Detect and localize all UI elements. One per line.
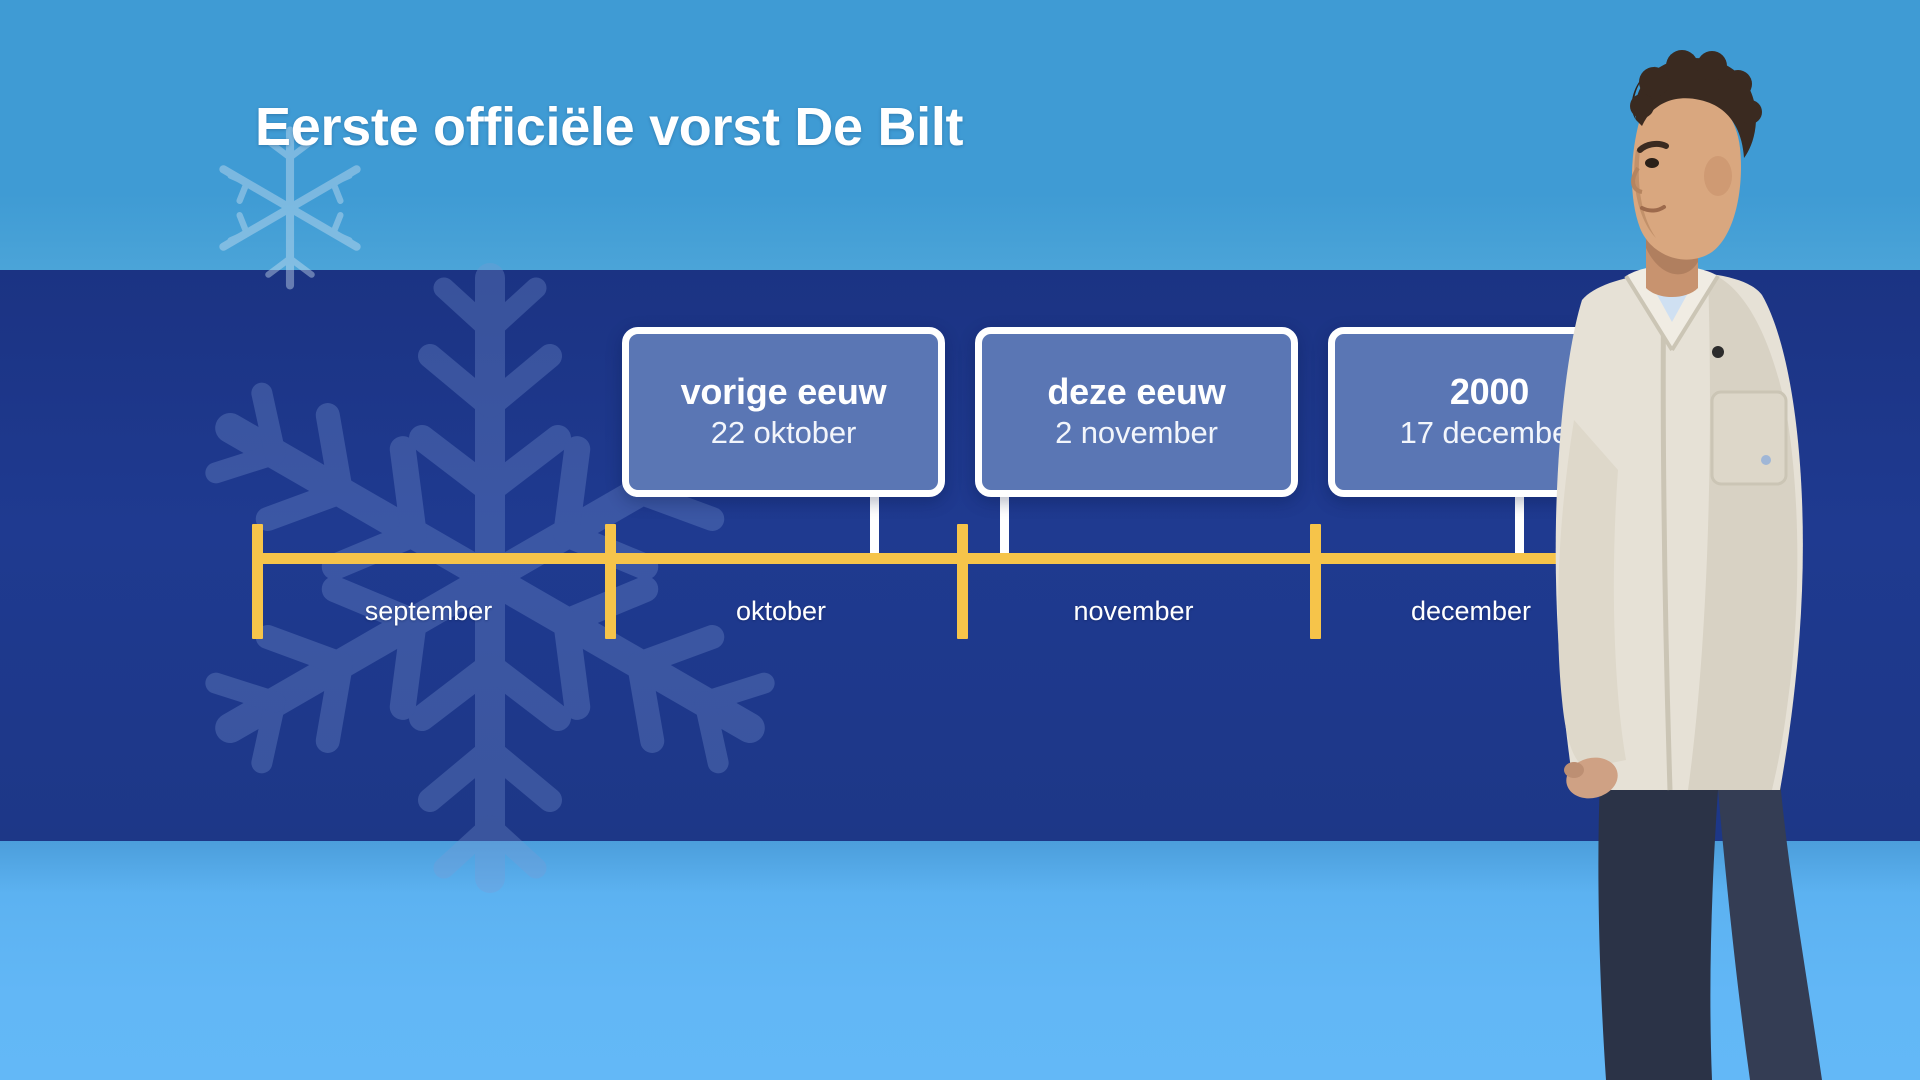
page-title: Eerste officiële vorst De Bilt (255, 96, 963, 158)
callout-subtitle-2: 2 november (1055, 415, 1218, 452)
timeline-month-label-november: november (957, 596, 1310, 627)
timeline-month-label-september: september (252, 596, 605, 627)
callout-box-vorige-eeuw[interactable]: vorige eeuw 22 oktober (622, 327, 945, 497)
timeline-axis (252, 553, 1632, 564)
callout-title-1: vorige eeuw (681, 373, 887, 412)
callout-subtitle-3: 17 december (1400, 415, 1580, 452)
callout-title-3: 2000 (1450, 373, 1529, 412)
broadcast-graphic-stage: Eerste officiële vorst De Bilt september… (0, 0, 1920, 1080)
callout-title-2: deze eeuw (1047, 373, 1225, 412)
callout-box-2000[interactable]: 2000 17 december (1328, 327, 1651, 497)
timeline-month-label-december: december (1310, 596, 1632, 627)
background-band-bottom (0, 841, 1920, 1080)
callout-subtitle-1: 22 oktober (711, 415, 857, 452)
timeline-month-label-oktober: oktober (605, 596, 957, 627)
callout-box-deze-eeuw[interactable]: deze eeuw 2 november (975, 327, 1298, 497)
